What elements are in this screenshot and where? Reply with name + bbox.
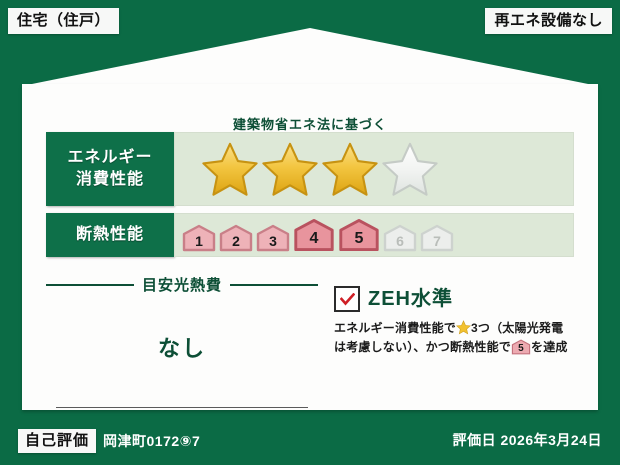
zeh-checkbox[interactable] <box>334 286 360 312</box>
insulation-label-text: 断熱性能 <box>76 224 144 246</box>
house-card: 建築物省エネ法に基づく 省エネ性能ラベル エネルギー 消費性能 断熱性能 <box>22 28 598 410</box>
utility-cost-value: なし <box>46 331 318 363</box>
energy-performance-value <box>174 132 574 206</box>
star-rating <box>180 141 438 197</box>
insulation-grade-7: 7 <box>420 224 454 252</box>
energy-label-line2: 消費性能 <box>76 169 144 191</box>
insulation-grade-6: 6 <box>383 224 417 252</box>
insulation-grade-scale: 1234567 <box>182 218 454 252</box>
heading-rule-right <box>230 284 318 286</box>
heading-rule-left <box>46 284 134 286</box>
insulation-grade-value: 4 <box>293 231 335 247</box>
house-roof <box>22 28 598 90</box>
energy-label-line1: エネルギー <box>67 147 152 169</box>
address-text: 岡津町0172⑨7 <box>103 434 200 448</box>
inline-grade-badge: 5 <box>511 339 531 355</box>
zeh-description: エネルギー消費性能で3つ（太陽光発電 は考慮しない）、かつ断熱性能で5を達成 <box>334 319 574 356</box>
insulation-performance-row: 断熱性能 1234567 <box>46 213 574 257</box>
utility-cost-block: 目安光熱費 なし <box>46 272 328 408</box>
zeh-title: ZEH水準 <box>368 289 453 309</box>
zeh-heading: ZEH水準 <box>334 286 574 312</box>
zeh-desc-part3: は考慮しない）、かつ断熱性能で <box>334 340 511 354</box>
energy-performance-label: エネルギー 消費性能 <box>46 132 174 206</box>
insulation-grade-4: 4 <box>293 218 335 252</box>
zeh-desc-part1: エネルギー消費性能で <box>334 321 456 335</box>
insulation-grade-value: 6 <box>383 234 417 248</box>
insulation-grade-5: 5 <box>338 218 380 252</box>
inline-grade-value: 5 <box>511 344 531 354</box>
lower-section: 目安光熱費 なし ZEH水準 <box>46 272 574 408</box>
insulation-grade-3: 3 <box>256 224 290 252</box>
utility-cost-heading-text: 目安光熱費 <box>142 274 222 295</box>
star-icon-filled <box>262 141 318 197</box>
insulation-grade-value: 3 <box>256 234 290 248</box>
inline-star-icon <box>456 320 471 335</box>
zeh-desc-part4: を達成 <box>531 340 568 354</box>
star-icon-filled <box>202 141 258 197</box>
insulation-grade-value: 7 <box>420 234 454 248</box>
utility-cost-heading: 目安光熱費 <box>46 274 318 295</box>
house-body: 建築物省エネ法に基づく 省エネ性能ラベル エネルギー 消費性能 断熱性能 <box>22 84 598 410</box>
star-icon-empty <box>382 141 438 197</box>
label-footer: 自己評価 岡津町0172⑨7 評価日 2026年3月24日 <box>0 418 620 465</box>
footer-left-group: 自己評価 岡津町0172⑨7 <box>18 429 200 453</box>
energy-performance-label: 住宅（住戸） 再エネ設備なし 建築物省エネ法に基づく 省エネ性能ラベル エネルギ… <box>0 0 620 465</box>
star-icon-filled <box>322 141 378 197</box>
insulation-grade-1: 1 <box>182 224 216 252</box>
performance-rows: エネルギー 消費性能 断熱性能 1234567 <box>46 132 574 264</box>
insulation-performance-label: 断熱性能 <box>46 213 174 257</box>
insulation-grade-value: 1 <box>182 234 216 248</box>
zeh-block: ZEH水準 エネルギー消費性能で3つ（太陽光発電 は考慮しない）、かつ断熱性能で… <box>328 272 574 408</box>
self-evaluation-tag: 自己評価 <box>18 429 96 453</box>
utility-cost-divider <box>56 407 308 408</box>
insulation-grade-value: 2 <box>219 234 253 248</box>
label-subtitle: 建築物省エネ法に基づく <box>22 118 598 132</box>
insulation-grade-2: 2 <box>219 224 253 252</box>
check-icon <box>340 293 355 306</box>
zeh-desc-part2: 3つ（太陽光発電 <box>471 321 563 335</box>
energy-performance-row: エネルギー 消費性能 <box>46 132 574 206</box>
insulation-performance-value: 1234567 <box>174 213 574 257</box>
evaluation-date: 評価日 2026年3月24日 <box>453 433 602 447</box>
insulation-grade-value: 5 <box>338 231 380 247</box>
